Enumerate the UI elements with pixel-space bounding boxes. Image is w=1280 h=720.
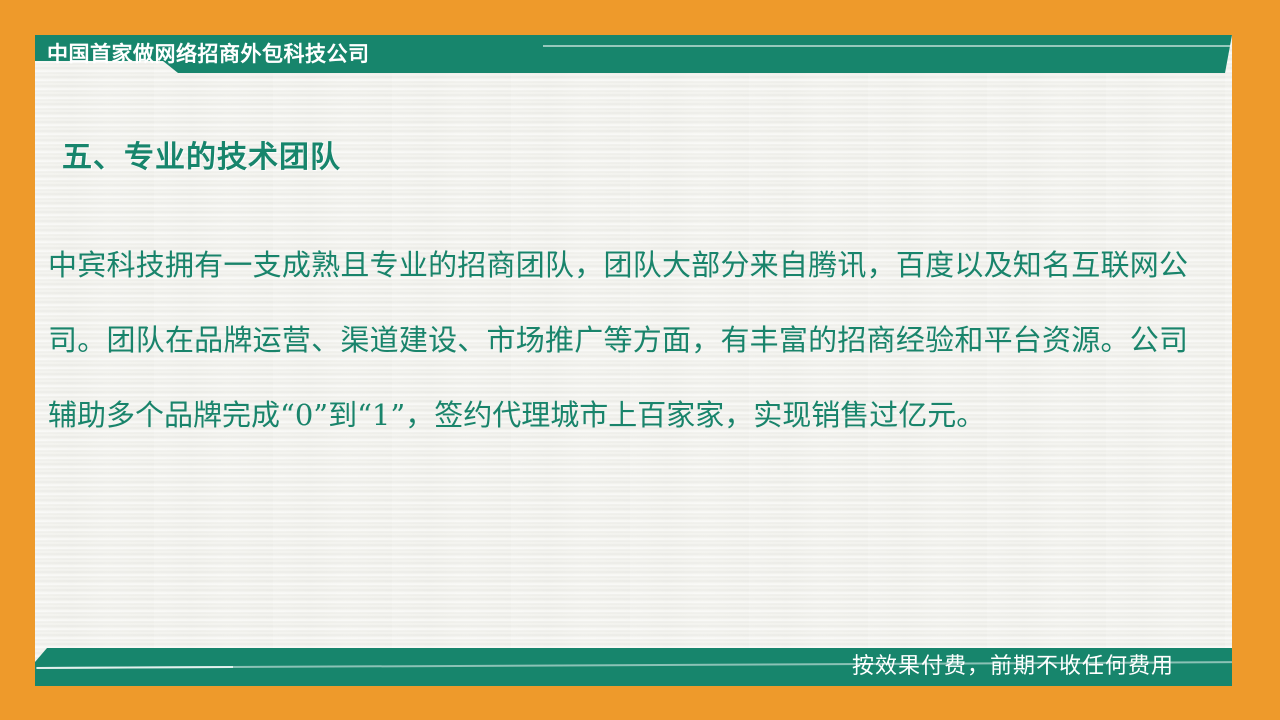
body-paragraph: 中宾科技拥有一支成熟且专业的招商团队，团队大部分来自腾讯，百度以及知名互联网公司…	[48, 228, 1188, 453]
header-hairline-divider	[543, 45, 1231, 47]
footer-tagline: 按效果付费，前期不收任何费用	[852, 648, 1174, 686]
section-heading: 五、专业的技术团队	[62, 132, 341, 176]
slide-canvas: 中国首家做网络招商外包科技公司 五、专业的技术团队 中宾科技拥有一支成熟且专业的…	[0, 0, 1280, 720]
header-title: 中国首家做网络招商外包科技公司	[47, 36, 370, 72]
